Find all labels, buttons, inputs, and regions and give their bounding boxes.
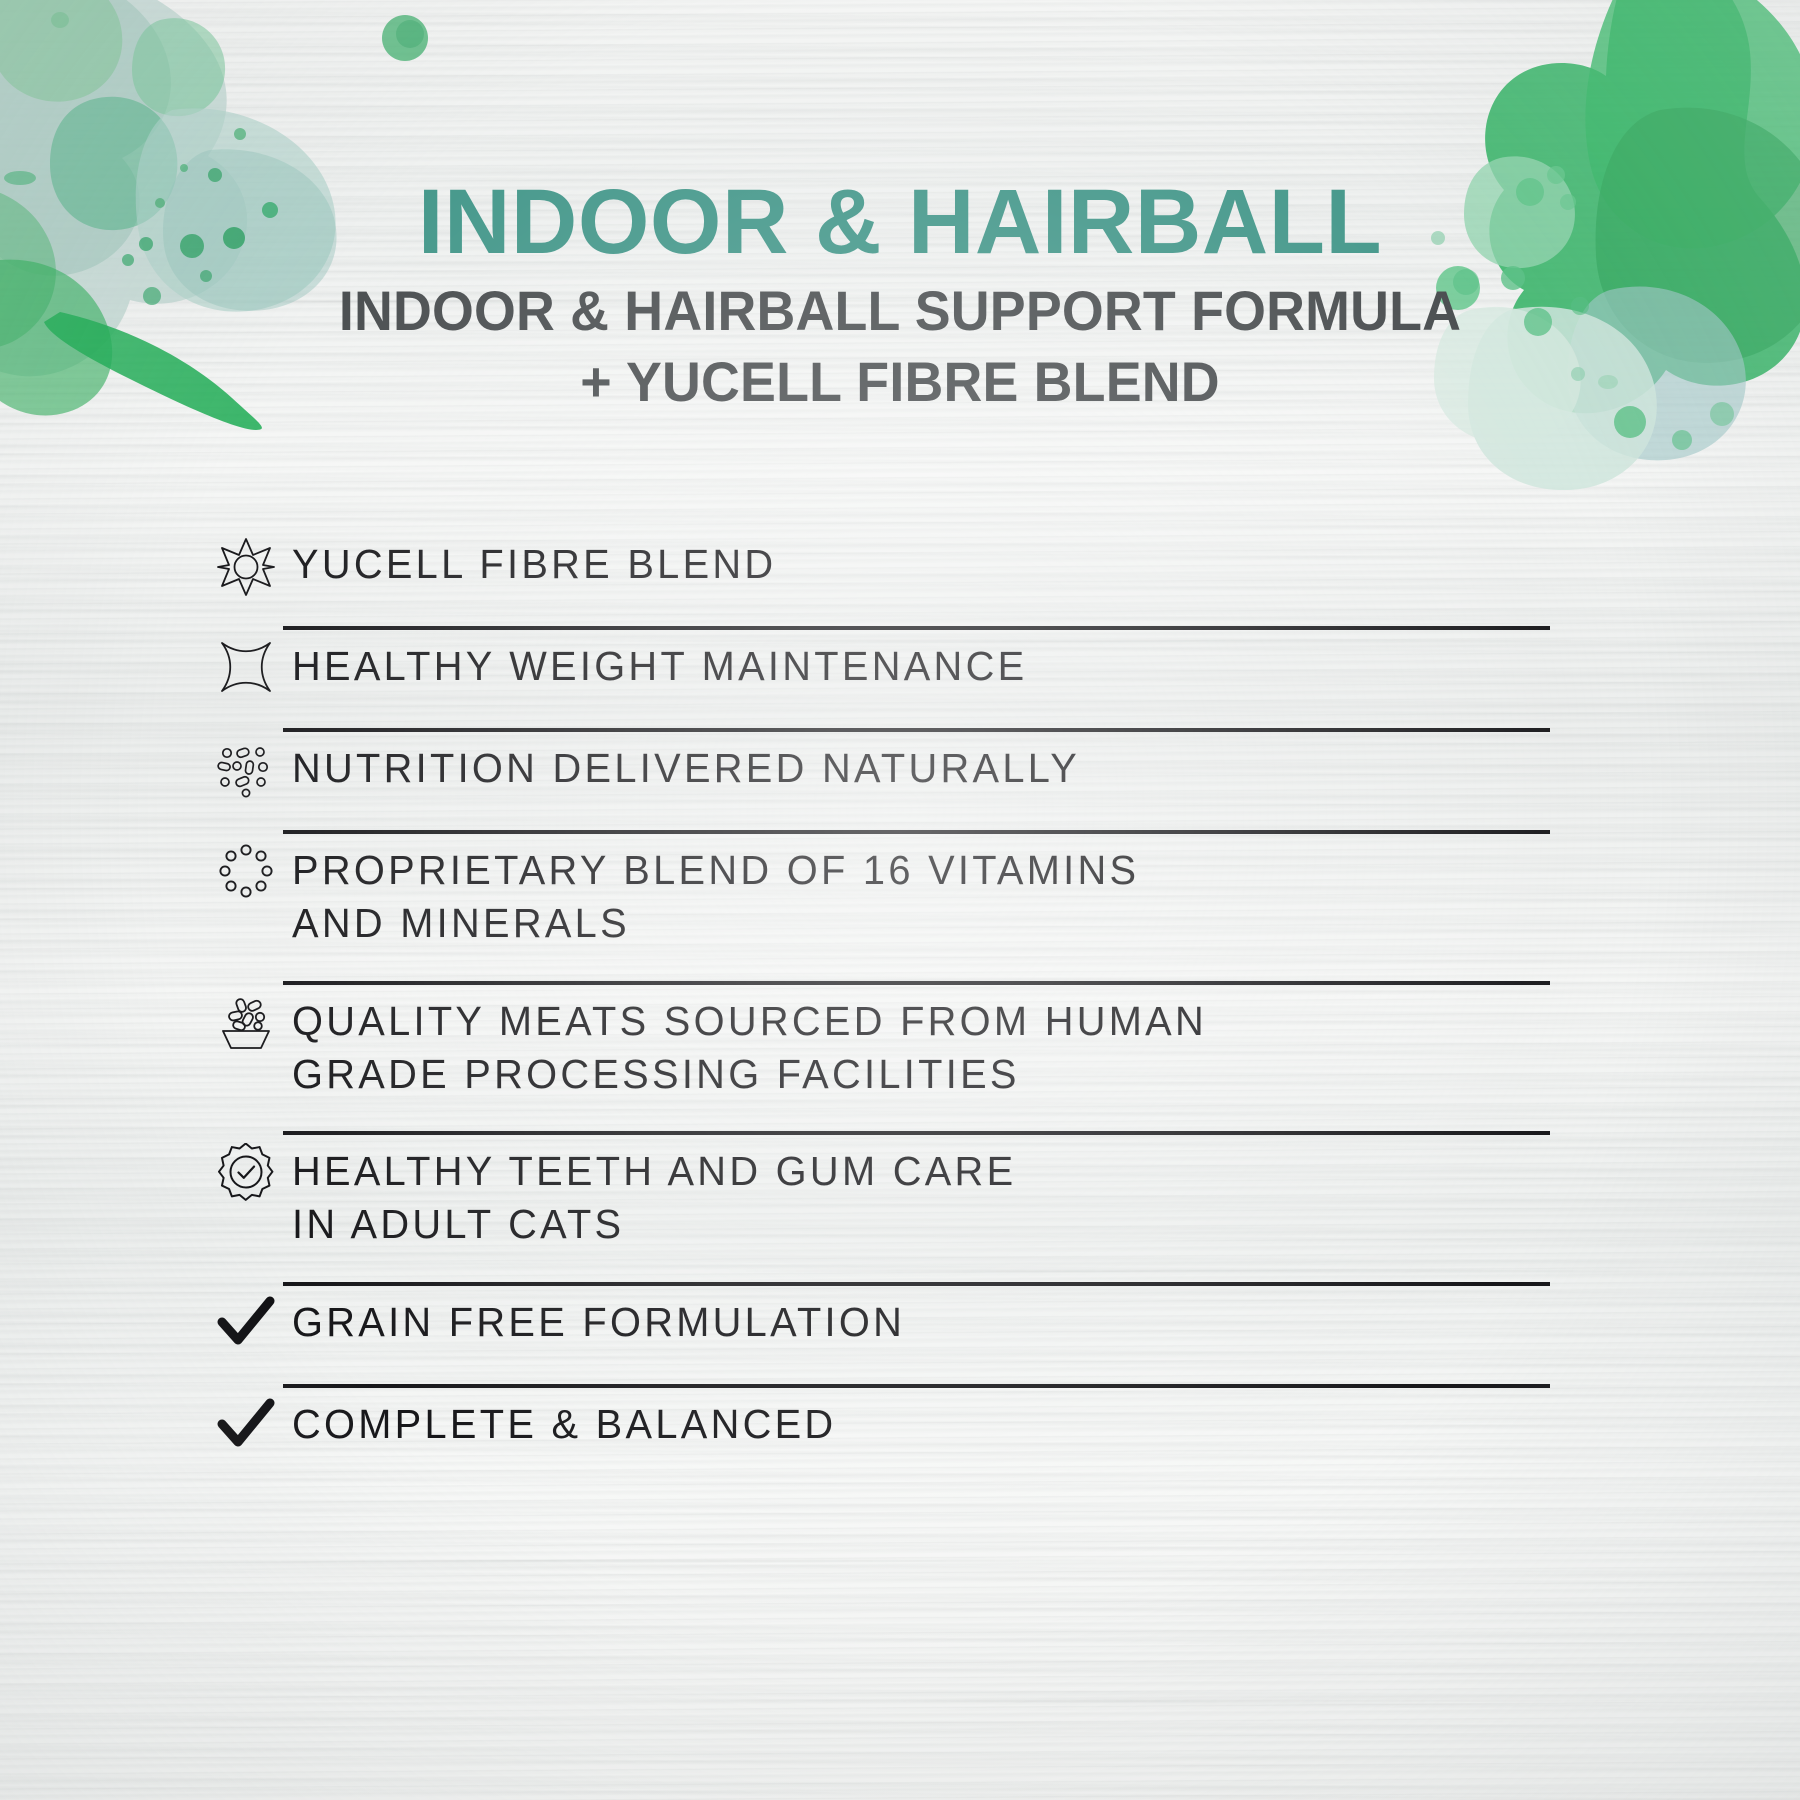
product-feature-panel: INDOOR & HAIRBALL INDOOR & HAIRBALL SUPP… bbox=[0, 0, 1800, 1800]
background-vignette bbox=[0, 0, 1800, 1800]
